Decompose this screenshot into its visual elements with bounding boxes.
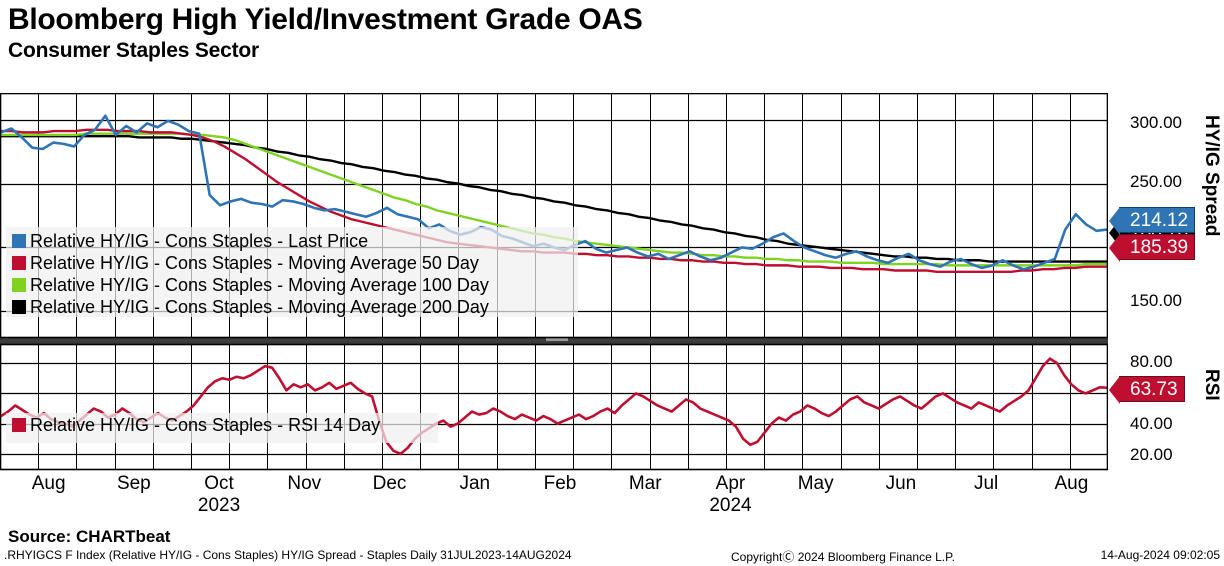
legend-swatch [12, 256, 26, 270]
chart-area[interactable]: Relative HY/IG - Cons Staples - Last Pri… [0, 93, 1108, 471]
rsi-ytick-20: 20.00 [1130, 446, 1173, 463]
legend-swatch [12, 234, 26, 248]
page-title: Bloomberg High Yield/Investment Grade OA… [8, 2, 643, 38]
x-axis: AugSepOctNovDecJanFebMarAprMayJunJulAug2… [0, 473, 1108, 523]
price-ytick-300: 300.00 [1130, 114, 1182, 131]
legend-label: Relative HY/IG - Cons Staples - Moving A… [30, 297, 489, 317]
panel-resize-handle[interactable] [546, 338, 568, 341]
price-ytick-150: 150.00 [1130, 292, 1182, 309]
x-year-2024: 2024 [709, 495, 751, 517]
legend-swatch [12, 418, 26, 432]
callout-last-price: 214.12 [1119, 207, 1195, 233]
legend-swatch [12, 300, 26, 314]
x-tick-may-9: May [798, 473, 834, 495]
rsi-axis-title: RSI [1200, 369, 1222, 401]
chart-svg[interactable]: Relative HY/IG - Cons Staples - Last Pri… [0, 93, 1108, 471]
legend-swatch [12, 278, 26, 292]
x-tick-dec-4: Dec [373, 473, 407, 495]
source-label: Source: CHARTbeat [8, 527, 170, 547]
x-tick-nov-3: Nov [287, 473, 321, 495]
x-tick-jan-5: Jan [459, 473, 490, 495]
x-tick-feb-6: Feb [544, 473, 577, 495]
right-axis-labels: 300.00 250.00 150.00 HY/IG Spread 188.76… [1108, 93, 1224, 471]
x-tick-aug-0: Aug [32, 473, 66, 495]
security-description: .RHYIGCS F Index (Relative HY/IG - Cons … [4, 548, 572, 562]
legend-label: Relative HY/IG - Cons Staples - Last Pri… [30, 231, 368, 251]
x-year-2023: 2023 [198, 495, 240, 517]
x-tick-aug-12: Aug [1054, 473, 1088, 495]
rsi-ytick-40: 40.00 [1130, 415, 1173, 432]
x-tick-jun-10: Jun [886, 473, 917, 495]
price-axis-title: HY/IG Spread [1200, 115, 1222, 236]
timestamp-label: 14-Aug-2024 09:02:05 [1101, 548, 1220, 562]
title-block: Bloomberg High Yield/Investment Grade OA… [8, 2, 643, 64]
page-subtitle: Consumer Staples Sector [8, 38, 643, 64]
legend-label: Relative HY/IG - Cons Staples - Moving A… [30, 253, 479, 273]
rsi-ytick-80: 80.00 [1130, 353, 1173, 370]
x-tick-mar-7: Mar [629, 473, 662, 495]
price-ytick-250: 250.00 [1130, 173, 1182, 190]
copyright-label: CopyrightⒸ 2024 Bloomberg Finance L.P. [731, 548, 955, 565]
legend-label: Relative HY/IG - Cons Staples - Moving A… [30, 275, 489, 295]
x-tick-jul-11: Jul [974, 473, 998, 495]
legend-label: Relative HY/IG - Cons Staples - RSI 14 D… [30, 415, 380, 435]
x-tick-apr-8: Apr [716, 473, 746, 495]
rsi-legend: Relative HY/IG - Cons Staples - RSI 14 D… [12, 415, 380, 435]
x-tick-sep-1: Sep [117, 473, 151, 495]
x-tick-oct-2: Oct [204, 473, 234, 495]
callout-ma50: 185.39 [1119, 234, 1195, 260]
callout-rsi: 63.73 [1119, 376, 1185, 402]
